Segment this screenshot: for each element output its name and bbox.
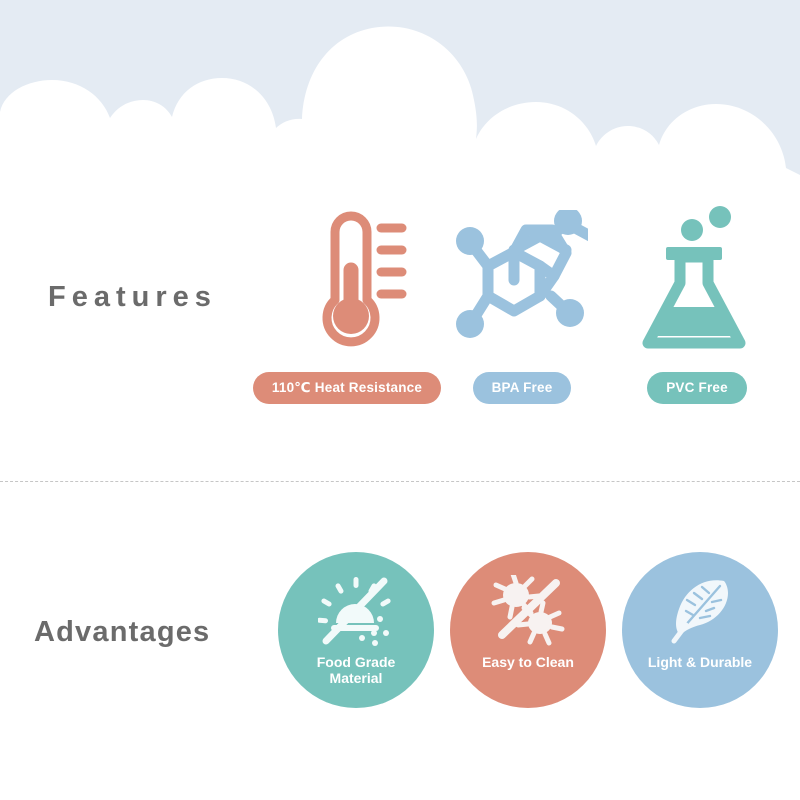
- feature-card-pvc-free[interactable]: PVC Free: [612, 200, 782, 404]
- badge-bpa-free[interactable]: BPA Free: [473, 372, 572, 404]
- thermometer-icon: [287, 204, 407, 356]
- section-divider: [0, 481, 800, 482]
- advantage-label-easy-to-clean: Easy to Clean: [474, 655, 582, 671]
- advantages-row: Food Grade Material: [278, 552, 778, 708]
- advantage-icon-container: [318, 574, 394, 648]
- advantage-card-light-durable[interactable]: Light & Durable: [622, 552, 778, 708]
- feather-icon: [662, 575, 738, 647]
- flask-icon: [636, 205, 758, 355]
- feature-card-bpa-free[interactable]: BPA Free: [437, 200, 607, 404]
- features-section-title: Features: [48, 281, 217, 314]
- feature-card-heat-resistance[interactable]: 110℃ Heat Resistance: [262, 200, 432, 404]
- advantage-card-food-grade[interactable]: Food Grade Material: [278, 552, 434, 708]
- advantage-icon-container: [490, 574, 566, 648]
- cloud-banner: [0, 0, 800, 175]
- feature-icon-container: [456, 200, 588, 360]
- food-safe-no-chemicals-icon: [318, 575, 394, 647]
- badge-pvc-free[interactable]: PVC Free: [647, 372, 747, 404]
- no-germs-icon: [490, 575, 566, 647]
- features-row: 110℃ Heat Resistance: [262, 200, 782, 404]
- advantage-icon-container: [662, 574, 738, 648]
- cloud-shape-icon: [0, 0, 800, 175]
- feature-icon-container: [636, 200, 758, 360]
- molecule-icon: [456, 210, 588, 350]
- feature-icon-container: [287, 200, 407, 360]
- advantage-label-food-grade: Food Grade Material: [309, 655, 404, 686]
- advantages-section-title: Advantages: [34, 616, 210, 649]
- advantage-card-easy-to-clean[interactable]: Easy to Clean: [450, 552, 606, 708]
- infographic-page: Features: [0, 0, 800, 800]
- advantage-label-light-durable: Light & Durable: [640, 655, 760, 671]
- badge-heat-resistance[interactable]: 110℃ Heat Resistance: [253, 372, 441, 404]
